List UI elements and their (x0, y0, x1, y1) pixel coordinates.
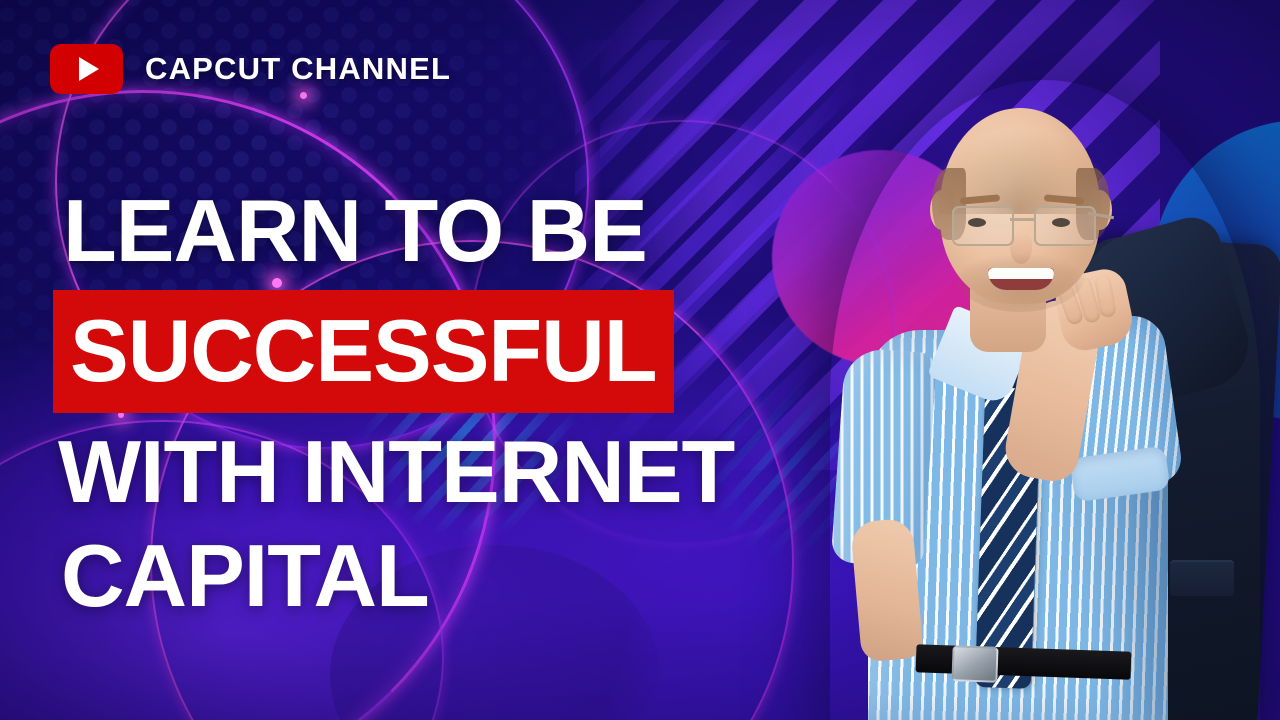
youtube-thumbnail: CAPCUT CHANNEL LEARN TO BE SUCCESSFUL WI… (0, 0, 1280, 720)
glasses-bridge (1010, 218, 1034, 221)
belt-buckle (951, 645, 998, 683)
headline-line-1: LEARN TO BE (63, 186, 893, 276)
headline-block: LEARN TO BE SUCCESSFUL WITH INTERNET CAP… (53, 186, 893, 620)
play-triangle-icon (79, 57, 99, 81)
teeth (988, 268, 1054, 279)
headline-line-3: WITH INTERNET (58, 427, 893, 517)
headline-line-2-highlighted: SUCCESSFUL (53, 290, 674, 413)
headline-line-4: CAPITAL (61, 531, 893, 621)
channel-name-label: CAPCUT CHANNEL (145, 51, 451, 87)
suit-jacket-pocket (1170, 560, 1234, 596)
youtube-play-icon[interactable] (50, 44, 123, 94)
smiling-mouth (988, 268, 1054, 290)
headline-highlight-wrapper: SUCCESSFUL (53, 290, 893, 413)
channel-badge[interactable]: CAPCUT CHANNEL (50, 44, 451, 94)
